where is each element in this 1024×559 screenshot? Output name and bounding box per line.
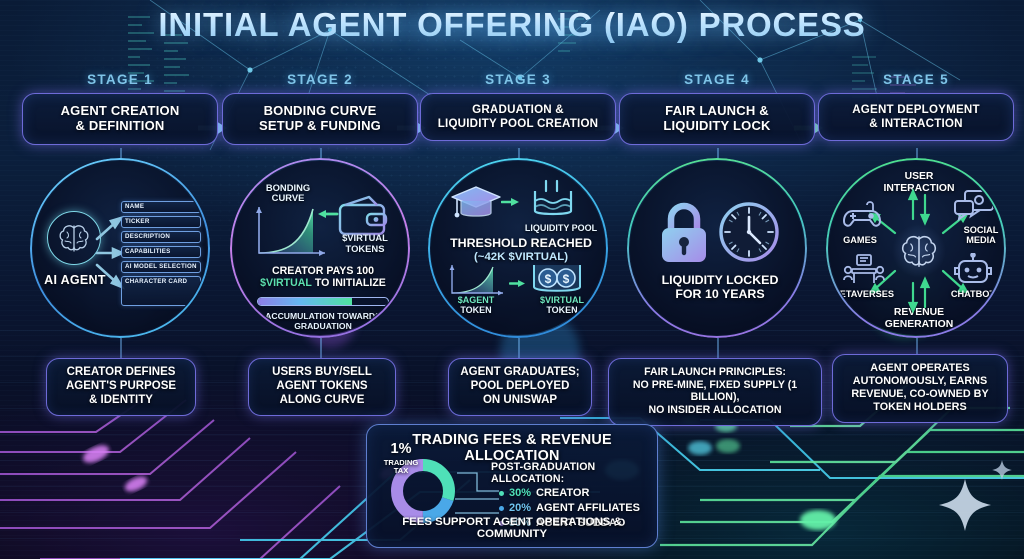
stage-5-caption-l4: TOKEN HOLDERS: [839, 401, 1001, 414]
stage-1-caption-l2: AGENT'S PURPOSE: [53, 380, 189, 394]
field-description[interactable]: DESCRIPTION: [121, 231, 201, 243]
stage-5-number: STAGE 5: [818, 72, 1014, 87]
stage-4-title-line1: FAIR LAUNCH &: [626, 103, 808, 118]
creator-pays-line1: CREATOR PAYS 100: [239, 265, 407, 277]
field-ticker[interactable]: TICKER: [121, 216, 201, 228]
stage-2-circle: BONDING CURVE: [230, 158, 410, 338]
agent-token-l1: $AGENT: [458, 295, 495, 305]
stage-5-header: STAGE 5 AGENT DEPLOYMENT & INTERACTION: [818, 72, 1014, 141]
infographic-canvas: INITIAL AGENT OFFERING (IAO) PROCESS STA…: [0, 0, 1024, 559]
creator-pays-text: CREATOR PAYS 100 $VIRTUAL TO INITIALIZE: [239, 265, 407, 290]
graduation-progress-fill: [258, 298, 352, 305]
brain-icon: [57, 222, 91, 254]
padlock-icon: [656, 201, 712, 265]
stem-4b: [717, 338, 719, 358]
virtual-tokens-label: $VIRTUAL TOKENS: [325, 233, 405, 254]
stage-5-title-line2: & INTERACTION: [825, 117, 1007, 131]
stage-5-disc: USER INTERACTION REVENUE GENERATION: [829, 161, 1003, 335]
liquidity-locked-label: LIQUIDITY LOCKED FOR 10 YEARS: [638, 273, 802, 302]
stage-1-caption: CREATOR DEFINES AGENT'S PURPOSE & IDENTI…: [46, 358, 196, 416]
agent-token-l2: TOKEN: [445, 305, 507, 315]
token-pool-icon: $ $: [529, 259, 585, 297]
threshold-line1: THRESHOLD REACHED: [435, 237, 605, 251]
stem-5b: [916, 338, 918, 354]
stage-4-disc: LIQUIDITY LOCKED FOR 10 YEARS: [630, 161, 804, 335]
virtual-token-l1: $VIRTUAL: [540, 295, 584, 305]
stage-5-caption-l1: AGENT OPERATES: [839, 362, 1001, 375]
sparkle-star: [939, 479, 991, 531]
stage-4-title-pill[interactable]: FAIR LAUNCH & LIQUIDITY LOCK: [619, 93, 815, 145]
stage-2-number: STAGE 2: [222, 72, 418, 87]
stage-2-caption-l2: AGENT TOKENS: [255, 380, 389, 394]
stage-4-title-line2: LIQUIDITY LOCK: [626, 118, 808, 133]
stem-1b: [120, 338, 122, 358]
stage-3-caption-l2: POOL DEPLOYED: [455, 380, 585, 394]
stem-2b: [320, 338, 322, 358]
clock-icon: [718, 201, 780, 263]
stage-3-number: STAGE 3: [420, 72, 616, 87]
ai-agent-node: [47, 211, 101, 265]
fees-panel-footer: FEES SUPPORT AGENT OPERATIONS & COMMUNIT…: [367, 516, 657, 540]
stage-3-caption: AGENT GRADUATES; POOL DEPLOYED ON UNISWA…: [448, 358, 592, 416]
stage-1-header: STAGE 1 AGENT CREATION & DEFINITION: [22, 72, 218, 145]
stage-4-caption-l1: FAIR LAUNCH PRINCIPLES:: [615, 366, 815, 379]
trading-fees-panel: TRADING FEES & REVENUE ALLOCATION 1% TRA…: [366, 424, 658, 548]
liquidity-locked-l2: FOR 10 YEARS: [638, 287, 802, 301]
agent-to-virtual-arrow: [509, 277, 527, 290]
gamepad-icon: [841, 199, 883, 231]
stage-2-title-pill[interactable]: BONDING CURVE SETUP & FUNDING: [222, 93, 418, 145]
stage-5-caption-l3: REVENUE, CO-OWNED BY: [839, 388, 1001, 401]
social-media-icon: [953, 189, 997, 223]
allocation-donut-chart: [389, 457, 457, 525]
creator-pays-highlight: $VIRTUAL: [260, 277, 312, 289]
social-media-l2: MEDIA: [955, 235, 1003, 245]
stage-4-caption: FAIR LAUNCH PRINCIPLES: NO PRE-MINE, FIX…: [608, 358, 822, 426]
virtual-token-label: $VIRTUAL TOKEN: [531, 295, 593, 316]
field-character-card[interactable]: CHARACTER CARD: [121, 276, 201, 306]
legend-dot-creator: [499, 491, 504, 496]
allocation-heading: POST-GRADUATION ALLOCATION:: [491, 461, 657, 485]
stage-1-title-line1: AGENT CREATION: [29, 103, 211, 118]
svg-text:$: $: [563, 272, 570, 286]
stage-2-title-line2: SETUP & FUNDING: [229, 118, 411, 133]
page-title: INITIAL AGENT OFFERING (IAO) PROCESS: [0, 6, 1024, 44]
stage-2-caption-l3: ALONG CURVE: [255, 394, 389, 408]
social-media-label: SOCIAL MEDIA: [955, 225, 1003, 246]
allocation-label-affiliates: AGENT AFFILIATES: [536, 502, 640, 514]
stage-1-caption-l3: & IDENTITY: [53, 394, 189, 408]
stage-1-disc: AI AGENT NAME TICKER DESCRIPTION CAPABIL…: [33, 161, 207, 335]
stage-3-title-pill[interactable]: GRADUATION & LIQUIDITY POOL CREATION: [420, 93, 616, 141]
allocation-row-creator: 30% CREATOR: [499, 487, 589, 499]
bonding-curve-label: BONDING CURVE: [257, 183, 319, 204]
stage-1-title-line2: & DEFINITION: [29, 118, 211, 133]
stage-5-radial-arrows: [829, 161, 1003, 335]
liquidity-pool-label: LIQUIDITY POOL: [519, 223, 603, 233]
cap-to-pool-arrow: [501, 195, 521, 209]
chatbots-label: CHATBOTS: [947, 289, 1003, 299]
stage-1-caption-l1: CREATOR DEFINES: [53, 366, 189, 380]
stage-3-caption-l3: ON UNISWAP: [455, 394, 585, 408]
stage-5-title-line1: AGENT DEPLOYMENT: [825, 103, 1007, 117]
creator-pays-line2-rest: TO INITIALIZE: [312, 277, 386, 289]
stage-2-caption-l1: USERS BUY/SELL: [255, 366, 389, 380]
liquidity-pool-icon: [529, 179, 577, 221]
stage-3-title-line1: GRADUATION &: [427, 103, 609, 117]
stage-5-circle: USER INTERACTION REVENUE GENERATION: [826, 158, 1006, 338]
liquidity-locked-l1: LIQUIDITY LOCKED: [638, 273, 802, 287]
allocation-value-creator: 30%: [509, 487, 531, 499]
accumulation-l1: ACCUMULATION TOWARDS: [243, 311, 403, 321]
stage-1-circle: AI AGENT NAME TICKER DESCRIPTION CAPABIL…: [30, 158, 210, 338]
stage-3-curve-chart: [445, 263, 507, 299]
allocation-label-creator: CREATOR: [536, 487, 589, 499]
field-capabilities[interactable]: CAPABILITIES: [121, 246, 201, 258]
stage-3-disc: LIQUIDITY POOL THRESHOLD REACHED (~42K $…: [431, 161, 605, 335]
allocation-value-affiliates: 20%: [509, 502, 531, 514]
chatbot-icon: [953, 253, 993, 289]
wallet-icon: [337, 195, 389, 237]
stage-2-disc: BONDING CURVE: [233, 161, 407, 335]
svg-text:$: $: [545, 272, 552, 286]
stage-4-circle: LIQUIDITY LOCKED FOR 10 YEARS: [627, 158, 807, 338]
stage-4-caption-l2: NO PRE-MINE, FIXED SUPPLY (1 BILLION),: [615, 379, 815, 404]
accumulation-l2: GRADUATION: [243, 321, 403, 331]
legend-dot-affiliates: [499, 506, 504, 511]
virtual-tokens-l2: TOKENS: [325, 244, 405, 255]
stage-2-caption: USERS BUY/SELL AGENT TOKENS ALONG CURVE: [248, 358, 396, 416]
stage-5-caption: AGENT OPERATES AUTONOMOUSLY, EARNS REVEN…: [832, 354, 1008, 423]
wallet-to-curve-arrow: [317, 207, 339, 221]
stage-3-caption-l1: AGENT GRADUATES;: [455, 366, 585, 380]
stage-3-header: STAGE 3 GRADUATION & LIQUIDITY POOL CREA…: [420, 72, 616, 141]
field-ai-model-selection[interactable]: AI MODEL SELECTION: [121, 261, 201, 273]
metaverse-icon: [841, 253, 887, 289]
stage-1-title-pill[interactable]: AGENT CREATION & DEFINITION: [22, 93, 218, 145]
stage-5-title-pill[interactable]: AGENT DEPLOYMENT & INTERACTION: [818, 93, 1014, 141]
stage-2-title-line1: BONDING CURVE: [229, 103, 411, 118]
graduation-progress-bar[interactable]: [257, 297, 389, 306]
graduation-cap-icon: [449, 183, 503, 225]
games-label: GAMES: [833, 235, 887, 245]
stem-3b: [518, 338, 520, 358]
virtual-tokens-l1: $VIRTUAL: [325, 233, 405, 244]
stage-3-circle: LIQUIDITY POOL THRESHOLD REACHED (~42K $…: [428, 158, 608, 338]
stage-4-number: STAGE 4: [619, 72, 815, 87]
stage-4-header: STAGE 4 FAIR LAUNCH & LIQUIDITY LOCK: [619, 72, 815, 145]
stage-1-number: STAGE 1: [22, 72, 218, 87]
stage-2-header: STAGE 2 BONDING CURVE SETUP & FUNDING: [222, 72, 418, 145]
virtual-token-l2: TOKEN: [531, 305, 593, 315]
social-media-l1: SOCIAL: [955, 225, 1003, 235]
allocation-row-affiliates: 20% AGENT AFFILIATES: [499, 502, 640, 514]
stage-4-caption-l3: NO INSIDER ALLOCATION: [615, 404, 815, 417]
field-name[interactable]: NAME: [121, 201, 201, 213]
stage-5-caption-l2: AUTONOMOUSLY, EARNS: [839, 375, 1001, 388]
stage-3-title-line2: LIQUIDITY POOL CREATION: [427, 117, 609, 131]
metaverses-label: METAVERSES: [829, 289, 897, 299]
agent-token-label: $AGENT TOKEN: [445, 295, 507, 316]
accumulation-label: ACCUMULATION TOWARDS GRADUATION: [243, 311, 403, 331]
